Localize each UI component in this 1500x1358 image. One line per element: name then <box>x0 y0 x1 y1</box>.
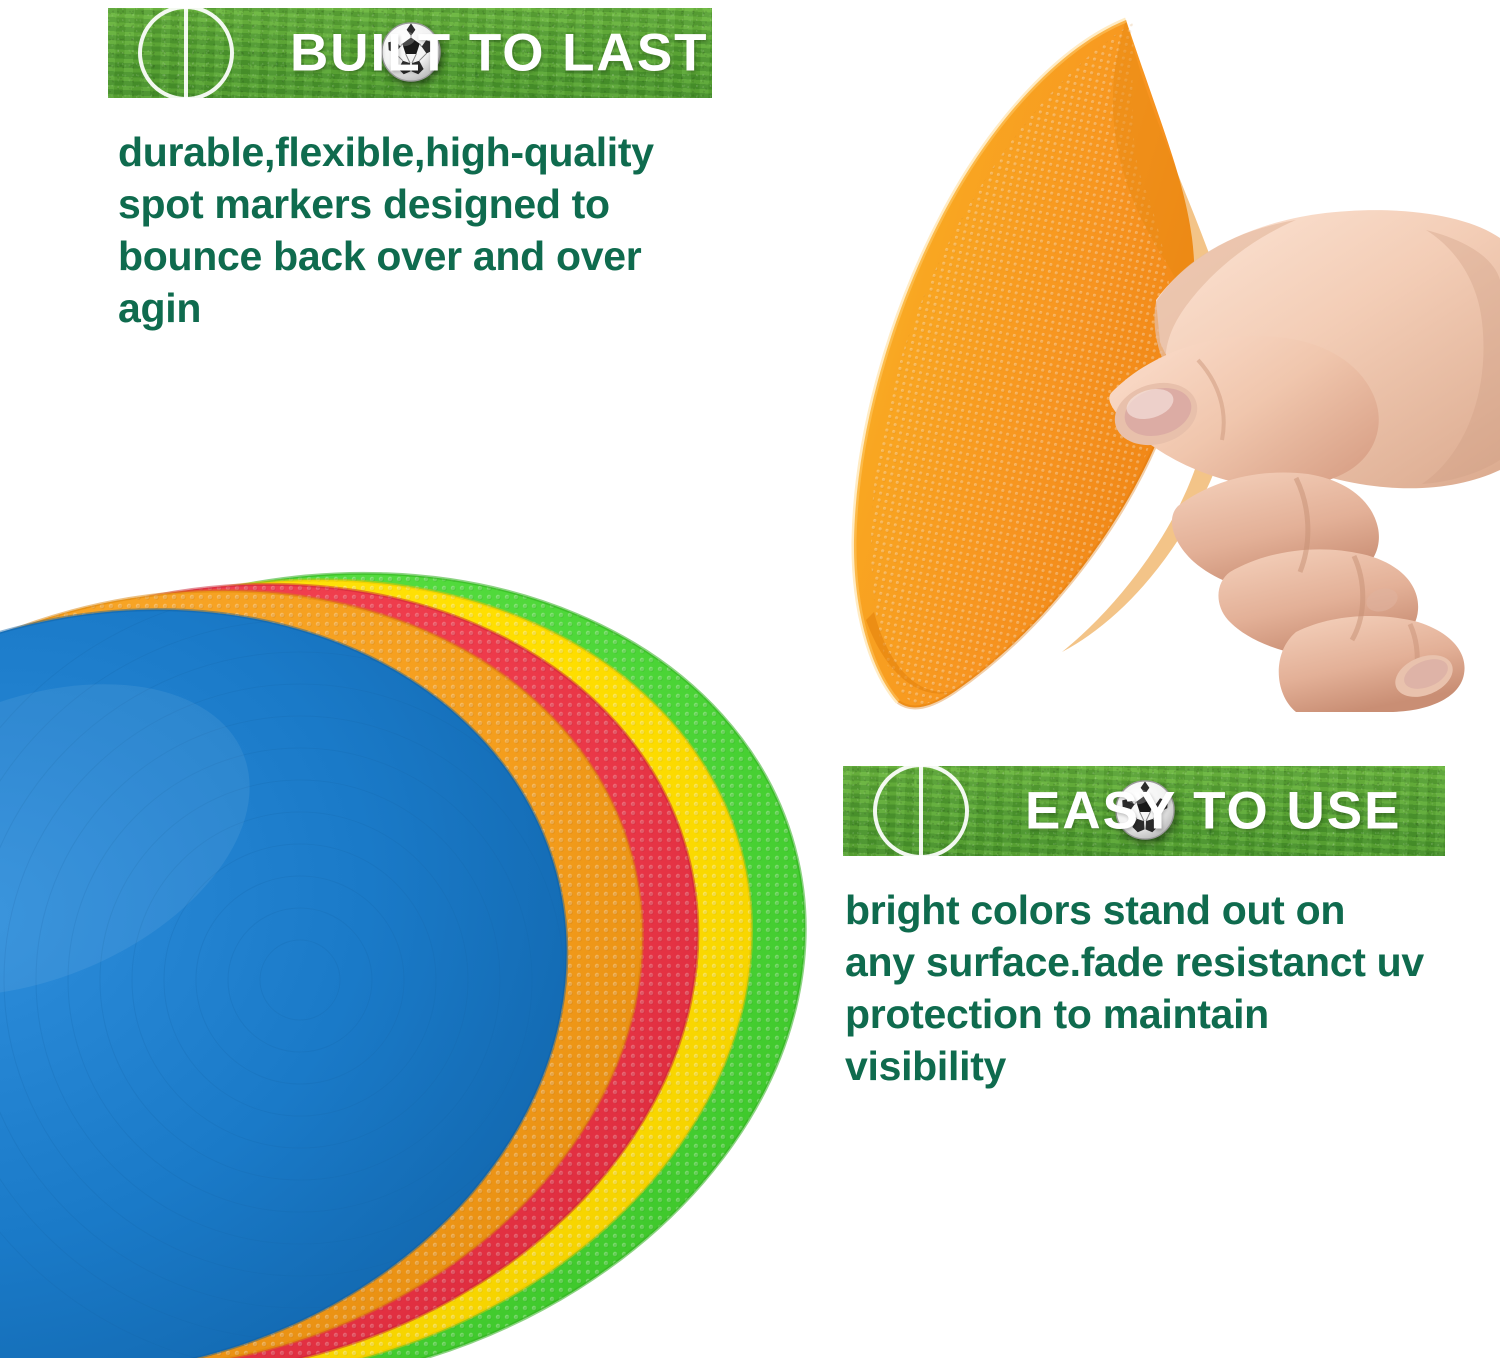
feature-banner-easy-to-use: EASY TO USE <box>843 766 1445 856</box>
hand-bending-orange-marker-image <box>826 0 1500 712</box>
feature-description-built-to-last: durable,flexible,high-quality spot marke… <box>118 126 718 334</box>
feature-description-easy-to-use: bright colors stand out on any surface.f… <box>845 884 1425 1092</box>
banner-title: BUILT TO LAST <box>290 23 709 84</box>
pitch-marking <box>857 766 985 856</box>
stacked-spot-markers-image <box>0 540 830 1358</box>
pitch-marking <box>122 8 250 98</box>
banner-title: EASY TO USE <box>1025 781 1401 842</box>
feature-banner-built-to-last: BUILT TO LAST <box>108 8 712 98</box>
halfway-line <box>919 766 923 856</box>
halfway-line <box>184 8 188 98</box>
center-circle <box>873 766 969 856</box>
center-circle <box>138 8 234 98</box>
